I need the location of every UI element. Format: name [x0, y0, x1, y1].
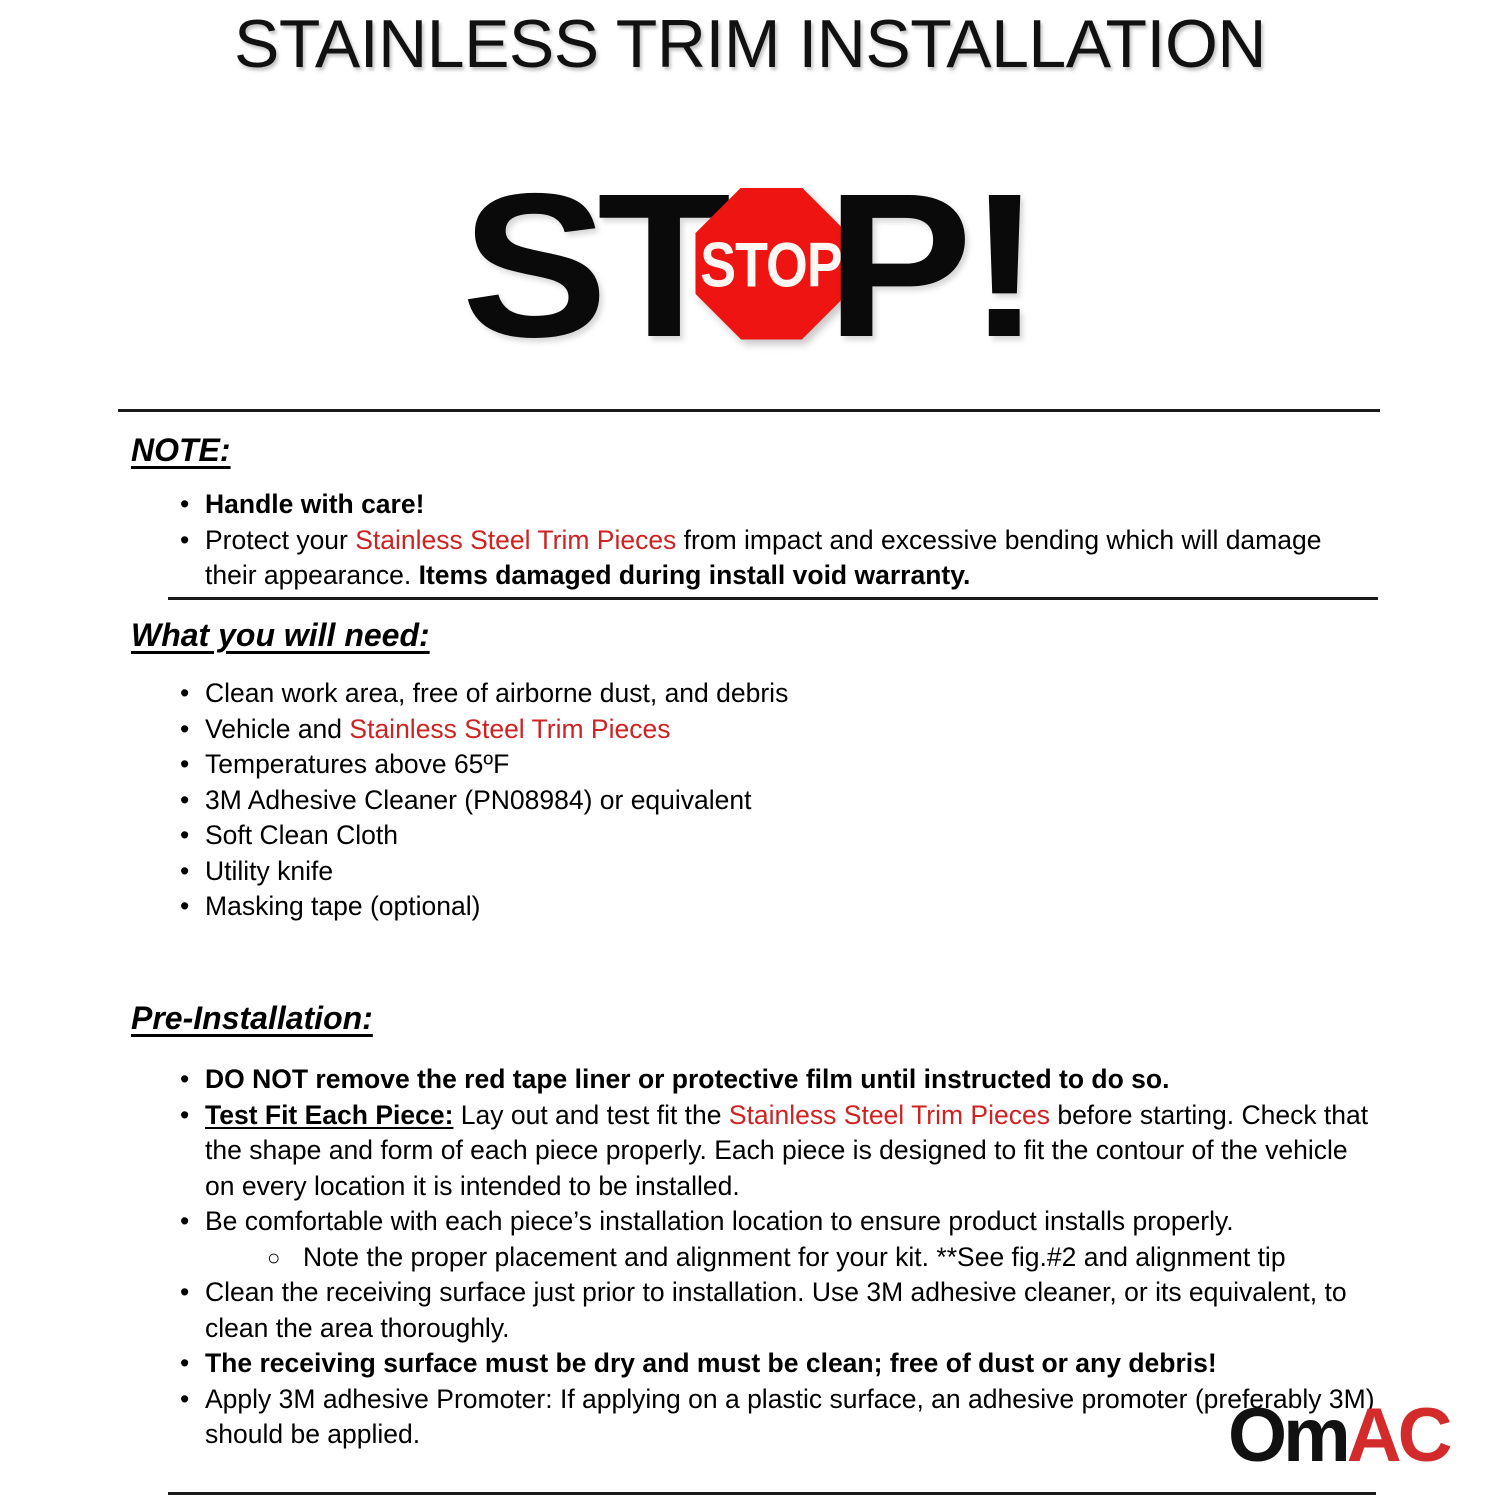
stop-wordmark: ST STOP P!: [470, 178, 1031, 353]
list-item-text: Test Fit Each Piece: Lay out and test fi…: [205, 1100, 1368, 1201]
list-item: • Clean the receiving surface just prior…: [171, 1275, 1381, 1346]
bullet-icon: •: [180, 854, 189, 890]
list-item: • Apply 3M adhesive Promoter: If applyin…: [171, 1382, 1381, 1453]
list-item-text: Clean the receiving surface just prior t…: [205, 1277, 1347, 1343]
bullet-icon: •: [180, 783, 189, 819]
text-run-highlight: Stainless Steel Trim Pieces: [349, 714, 670, 744]
note-list: • Handle with care! • Protect your Stain…: [171, 487, 1371, 594]
divider-bottom: [168, 1492, 1376, 1495]
omac-logo: OmAC: [1228, 1398, 1448, 1474]
text-run-bold: Items damaged during install void warran…: [419, 560, 971, 590]
stop-left-letters: ST: [461, 186, 720, 346]
circle-bullet-icon: ○: [267, 1240, 280, 1276]
list-item: • Handle with care!: [171, 487, 1371, 523]
list-item-text: Handle with care!: [205, 489, 424, 519]
bullet-icon: •: [180, 1346, 189, 1382]
text-run-highlight: Stainless Steel Trim Pieces: [729, 1100, 1050, 1130]
list-item: • Test Fit Each Piece: Lay out and test …: [171, 1098, 1381, 1205]
list-item-text: Protect your Stainless Steel Trim Pieces…: [205, 525, 1321, 591]
list-item-text: Masking tape (optional): [205, 891, 480, 921]
list-item: • Clean work area, free of airborne dust…: [171, 676, 1371, 712]
list-item-text: DO NOT remove the red tape liner or prot…: [205, 1064, 1169, 1094]
bullet-icon: •: [180, 1098, 189, 1134]
list-item: • 3M Adhesive Cleaner (PN08984) or equiv…: [171, 783, 1371, 819]
logo-accent-part: AC: [1347, 1393, 1449, 1478]
list-item-text: Temperatures above 65ºF: [205, 749, 509, 779]
list-item: • Vehicle and Stainless Steel Trim Piece…: [171, 712, 1371, 748]
stop-sign-icon: STOP: [695, 188, 847, 340]
bullet-icon: •: [180, 1204, 189, 1240]
list-item-text: Vehicle and Stainless Steel Trim Pieces: [205, 714, 670, 744]
divider-top: [118, 409, 1380, 412]
bullet-icon: •: [180, 523, 189, 559]
bullet-icon: •: [180, 1062, 189, 1098]
sub-list-item: ○ Note the proper placement and alignmen…: [267, 1240, 1381, 1276]
list-item: • Protect your Stainless Steel Trim Piec…: [171, 523, 1371, 594]
heading-pre-installation: Pre-Installation:: [131, 1000, 373, 1037]
bullet-icon: •: [180, 1382, 189, 1418]
list-item-text: Be comfortable with each piece’s install…: [205, 1206, 1234, 1236]
bullet-icon: •: [180, 889, 189, 925]
bullet-icon: •: [180, 676, 189, 712]
pre-installation-list: • DO NOT remove the red tape liner or pr…: [171, 1062, 1381, 1453]
bullet-icon: •: [180, 487, 189, 523]
text-run-bold-underline: Test Fit Each Piece:: [205, 1100, 453, 1130]
document-page: STAINLESS TRIM INSTALLATION ST STOP P! N…: [0, 0, 1500, 1500]
stop-sign-label: STOP: [699, 178, 845, 348]
stop-right-letters: P!: [827, 186, 1038, 346]
page-title: STAINLESS TRIM INSTALLATION: [0, 8, 1500, 81]
bullet-icon: •: [180, 712, 189, 748]
list-item: • Masking tape (optional): [171, 889, 1371, 925]
logo-dark-part: Om: [1228, 1393, 1347, 1478]
text-run: Protect your: [205, 525, 355, 555]
what-you-need-list: • Clean work area, free of airborne dust…: [171, 676, 1371, 925]
text-run: Vehicle and: [205, 714, 349, 744]
list-item: • Temperatures above 65ºF: [171, 747, 1371, 783]
pre-installation-sublist: ○ Note the proper placement and alignmen…: [205, 1240, 1381, 1276]
text-run: Lay out and test fit the: [453, 1100, 728, 1130]
text-run-highlight: Stainless Steel Trim Pieces: [355, 525, 676, 555]
stop-graphic: ST STOP P!: [0, 168, 1500, 363]
list-item-text: Apply 3M adhesive Promoter: If applying …: [205, 1384, 1375, 1450]
list-item-text: The receiving surface must be dry and mu…: [205, 1348, 1217, 1378]
list-item: • The receiving surface must be dry and …: [171, 1346, 1381, 1382]
bullet-icon: •: [180, 1275, 189, 1311]
list-item-text: Soft Clean Cloth: [205, 820, 398, 850]
list-item: • DO NOT remove the red tape liner or pr…: [171, 1062, 1381, 1098]
list-item-text: 3M Adhesive Cleaner (PN08984) or equival…: [205, 785, 752, 815]
list-item: • Soft Clean Cloth: [171, 818, 1371, 854]
list-item: • Utility knife: [171, 854, 1371, 890]
sub-list-item-text: Note the proper placement and alignment …: [303, 1242, 1286, 1272]
list-item-text: Utility knife: [205, 856, 333, 886]
heading-note: NOTE:: [131, 432, 231, 469]
list-item: • Be comfortable with each piece’s insta…: [171, 1204, 1381, 1275]
bullet-icon: •: [180, 818, 189, 854]
list-item-text: Clean work area, free of airborne dust, …: [205, 678, 788, 708]
bullet-icon: •: [180, 747, 189, 783]
divider-after-note: [168, 597, 1378, 600]
heading-what-you-need: What you will need:: [131, 617, 430, 654]
